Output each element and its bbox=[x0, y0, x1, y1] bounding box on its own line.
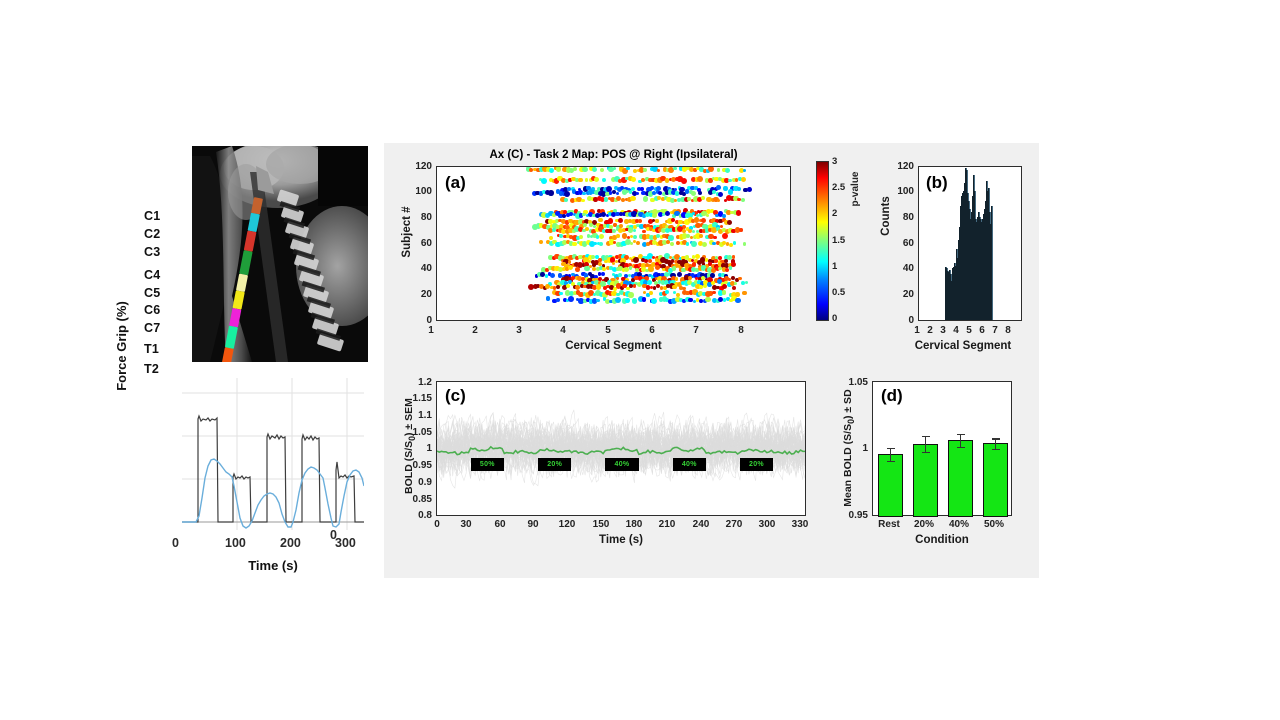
panel-b: 120 100 80 60 40 20 0 Counts (b) 1 2 3 4… bbox=[874, 148, 1034, 363]
panel-a-x-axis-label: Cervical Segment bbox=[436, 340, 791, 352]
panel-d: 1.05 1 0.95 Mean BOLD (S/S0) ± SD (d) Re… bbox=[826, 371, 1031, 571]
colorbar-tick-0.5: 0.5 bbox=[832, 287, 845, 298]
bar-20% bbox=[913, 444, 938, 517]
cord-segment-c5 bbox=[236, 274, 248, 292]
panel-c-xtick-60: 60 bbox=[490, 519, 510, 530]
colorbar-gradient bbox=[816, 161, 829, 321]
task-block-4: 20% bbox=[740, 458, 774, 471]
panel-c-xtick-180: 180 bbox=[622, 519, 646, 530]
panel-a-xtick-5: 5 bbox=[597, 325, 619, 336]
panel-d-xtick-50: 50% bbox=[978, 519, 1010, 530]
panel-c-xtick-240: 240 bbox=[689, 519, 713, 530]
colorbar-tick-2.5: 2.5 bbox=[832, 182, 845, 193]
task-block-3: 40% bbox=[673, 458, 707, 471]
panel-c-x-axis-label: Time (s) bbox=[436, 534, 806, 546]
panel-a-xtick-7: 7 bbox=[685, 325, 707, 336]
panel-d-plot-area: (d) bbox=[872, 381, 1012, 516]
panel-c-xtick-120: 120 bbox=[555, 519, 579, 530]
panel-b-plot-area: (b) bbox=[918, 166, 1022, 321]
force-xtick-100: 100 bbox=[225, 536, 247, 550]
bar-Rest bbox=[878, 454, 903, 517]
force-grip-plot-area bbox=[182, 378, 364, 530]
panel-b-x-axis-label: Cervical Segment bbox=[896, 340, 1030, 352]
force-grip-chart: Force Grip (%) 60 40 20 0 bbox=[126, 372, 376, 582]
panel-b-xtick-4: 4 bbox=[949, 325, 963, 336]
panel-b-xtick-1: 1 bbox=[910, 325, 924, 336]
colorbar-tick-1.5: 1.5 bbox=[832, 235, 845, 246]
panel-a-xtick-6: 6 bbox=[641, 325, 663, 336]
segment-label-c2: C2 bbox=[144, 227, 160, 241]
errorbar-cap-bottom-1 bbox=[922, 452, 930, 454]
segment-label-c1: C1 bbox=[144, 209, 160, 223]
errorbar-cap-top-2 bbox=[957, 434, 965, 436]
bar-40% bbox=[948, 440, 973, 517]
panel-c-xtick-330: 330 bbox=[788, 519, 812, 530]
cord-segment-c1 bbox=[251, 197, 263, 214]
panel-b-xtick-5: 5 bbox=[962, 325, 976, 336]
colorbar-tick-0: 0 bbox=[832, 313, 837, 324]
errorbar-20% bbox=[925, 436, 927, 452]
panel-c-xtick-30: 30 bbox=[456, 519, 476, 530]
panel-c-xtick-210: 210 bbox=[655, 519, 679, 530]
panel-c-plot-area: (c) 50%20%40%40%20% bbox=[436, 381, 806, 516]
panel-c-letter: (c) bbox=[445, 386, 466, 406]
segment-label-c3: C3 bbox=[144, 245, 160, 259]
panel-a-scatter-points bbox=[437, 167, 790, 320]
panel-b-xtick-6: 6 bbox=[975, 325, 989, 336]
colorbar: 3 2.5 2 1.5 1 0.5 0 p-value bbox=[816, 161, 862, 336]
errorbar-40% bbox=[960, 434, 962, 447]
sagittal-mri-image bbox=[192, 146, 368, 362]
panel-c-y-axis-label: BOLD (S/S0) ± SEM bbox=[403, 366, 417, 526]
panel-b-xtick-3: 3 bbox=[936, 325, 950, 336]
force-grip-traces bbox=[182, 378, 364, 530]
errorbar-cap-top-1 bbox=[922, 436, 930, 438]
task-block-2: 40% bbox=[605, 458, 639, 471]
panel-d-xtick-rest: Rest bbox=[873, 519, 905, 530]
panel-c-xtick-270: 270 bbox=[722, 519, 746, 530]
segment-label-c6: C6 bbox=[144, 303, 160, 317]
panel-c: 1.2 1.15 1.1 1.05 1 0.95 0.9 0.85 0.8 BO… bbox=[390, 371, 820, 571]
errorbar-cap-bottom-3 bbox=[992, 449, 1000, 451]
panel-d-xtick-40: 40% bbox=[943, 519, 975, 530]
force-grip-y-axis-label: Force Grip (%) bbox=[114, 286, 129, 406]
force-grip-x-axis-label: Time (s) bbox=[182, 558, 364, 573]
colorbar-label: p-value bbox=[850, 159, 861, 219]
task-block-1: 20% bbox=[538, 458, 572, 471]
panel-b-xtick-2: 2 bbox=[923, 325, 937, 336]
mri-anatomy-render bbox=[192, 146, 368, 362]
bar-50% bbox=[983, 443, 1008, 517]
force-xtick-200: 200 bbox=[280, 536, 302, 550]
panel-a-xtick-3: 3 bbox=[508, 325, 530, 336]
task-block-0: 50% bbox=[471, 458, 505, 471]
panel-a-xtick-8: 8 bbox=[730, 325, 752, 336]
cord-segment-t2 bbox=[222, 347, 234, 362]
panel-c-xtick-90: 90 bbox=[523, 519, 543, 530]
cord-segment-c7 bbox=[229, 308, 241, 327]
panel-a-y-axis-label: Subject # bbox=[401, 167, 413, 297]
panel-a-xtick-1: 1 bbox=[420, 325, 442, 336]
panel-c-xtick-150: 150 bbox=[589, 519, 613, 530]
errorbar-cap-top-0 bbox=[887, 448, 895, 450]
errorbar-50% bbox=[995, 438, 997, 448]
errorbar-cap-bottom-0 bbox=[887, 461, 895, 463]
colorbar-tick-3: 3 bbox=[832, 156, 837, 167]
errorbar-Rest bbox=[890, 448, 892, 461]
colorbar-tick-1: 1 bbox=[832, 261, 837, 272]
left-column: C1 C2 C3 C4 C5 C6 C7 T1 T2 bbox=[0, 0, 380, 720]
panel-c-timeseries bbox=[437, 382, 805, 515]
force-xtick-300: 300 bbox=[335, 536, 357, 550]
force-xtick-0: 0 bbox=[172, 536, 192, 550]
results-panel: Ax (C) - Task 2 Map: POS @ Right (Ipsila… bbox=[384, 143, 1039, 578]
segment-label-c5: C5 bbox=[144, 286, 160, 300]
panel-b-xtick-7: 7 bbox=[988, 325, 1002, 336]
panel-d-xtick-20: 20% bbox=[908, 519, 940, 530]
segment-label-t1: T1 bbox=[144, 342, 159, 356]
panel-a-plot-area: (a) bbox=[436, 166, 791, 321]
panel-b-y-axis-label: Counts bbox=[880, 160, 892, 272]
segment-label-c7: C7 bbox=[144, 321, 160, 335]
panel-a-xtick-2: 2 bbox=[464, 325, 486, 336]
panel-d-x-axis-label: Condition bbox=[872, 534, 1012, 546]
errorbar-cap-bottom-2 bbox=[957, 447, 965, 449]
panel-d-letter: (d) bbox=[881, 386, 903, 406]
spinal-segment-label-list: C1 C2 C3 C4 C5 C6 C7 T1 T2 bbox=[136, 146, 192, 362]
panel-a-letter: (a) bbox=[445, 173, 466, 193]
panel-b-xtick-8: 8 bbox=[1001, 325, 1015, 336]
panel-d-y-axis-label: Mean BOLD (S/S0) ± SD bbox=[842, 363, 856, 533]
panel-b-ytick-20: 20 bbox=[886, 289, 914, 300]
panel-c-xtick-0: 0 bbox=[430, 519, 444, 530]
panel-a-title: Ax (C) - Task 2 Map: POS @ Right (Ipsila… bbox=[436, 149, 791, 161]
colorbar-tick-2: 2 bbox=[832, 208, 837, 219]
segment-label-c4: C4 bbox=[144, 268, 160, 282]
errorbar-cap-top-3 bbox=[992, 438, 1000, 440]
anatomy-figure: C1 C2 C3 C4 C5 C6 C7 T1 T2 bbox=[136, 146, 368, 362]
panel-a-xtick-4: 4 bbox=[552, 325, 574, 336]
panel-c-xtick-300: 300 bbox=[755, 519, 779, 530]
panel-b-letter: (b) bbox=[926, 173, 948, 193]
panel-a: Ax (C) - Task 2 Map: POS @ Right (Ipsila… bbox=[390, 148, 810, 363]
